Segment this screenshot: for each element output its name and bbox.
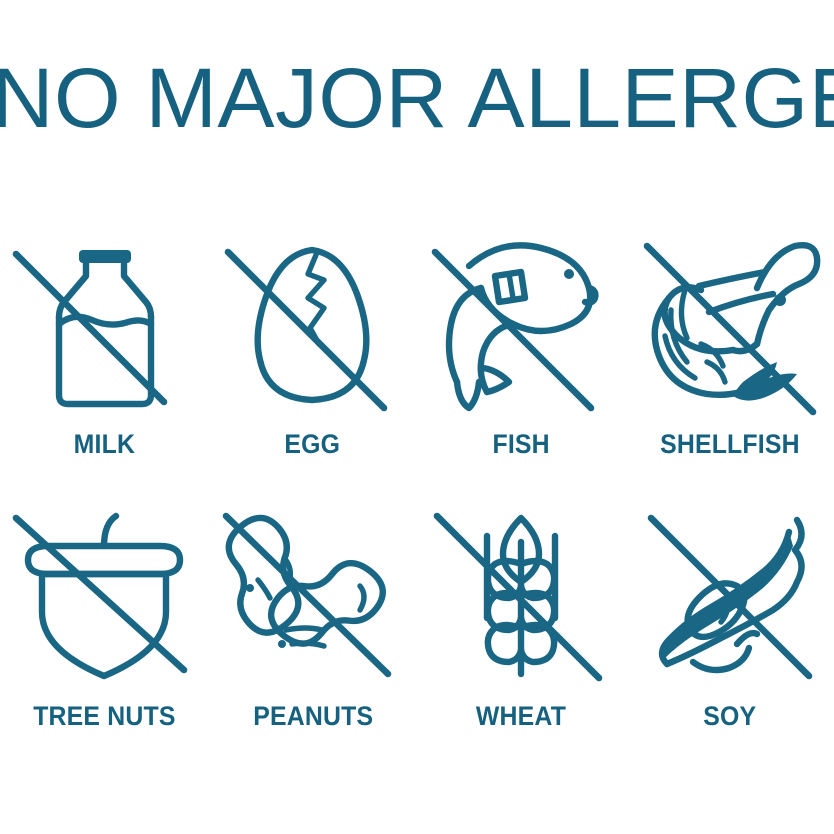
allergen-label: TREE NUTS xyxy=(33,701,175,732)
allergen-label: MILK xyxy=(74,429,135,460)
fish-icon xyxy=(429,232,614,417)
page-title: NO MAJOR ALLERGENS xyxy=(0,52,834,144)
milk-bottle-icon xyxy=(12,232,197,417)
allergen-item-peanuts: PEANUTS xyxy=(209,502,418,772)
shrimp-icon xyxy=(637,232,822,417)
cracked-egg-icon xyxy=(220,232,405,417)
allergen-item-soy: SOY xyxy=(626,502,834,772)
allergen-item-tree-nuts: TREE NUTS xyxy=(0,502,209,772)
allergen-item-wheat: WHEAT xyxy=(417,502,626,772)
allergen-item-milk: MILK xyxy=(0,232,209,502)
wheat-stalk-icon xyxy=(429,502,614,687)
allergen-label: PEANUTS xyxy=(253,701,373,732)
allergen-item-shellfish: SHELLFISH xyxy=(626,232,834,502)
allergen-grid: MILK EGG xyxy=(0,232,834,772)
allergen-label: EGG xyxy=(285,429,341,460)
allergen-item-fish: FISH xyxy=(417,232,626,502)
peanut-icon xyxy=(220,502,405,687)
allergen-label: FISH xyxy=(493,429,550,460)
soy-pod-icon xyxy=(637,502,822,687)
acorn-icon xyxy=(12,502,197,687)
allergen-label: SOY xyxy=(703,701,756,732)
allergen-label: SHELLFISH xyxy=(660,429,800,460)
allergen-item-egg: EGG xyxy=(209,232,418,502)
allergen-label: WHEAT xyxy=(476,701,566,732)
allergen-poster: NO MAJOR ALLERGENS MILK xyxy=(0,0,834,834)
